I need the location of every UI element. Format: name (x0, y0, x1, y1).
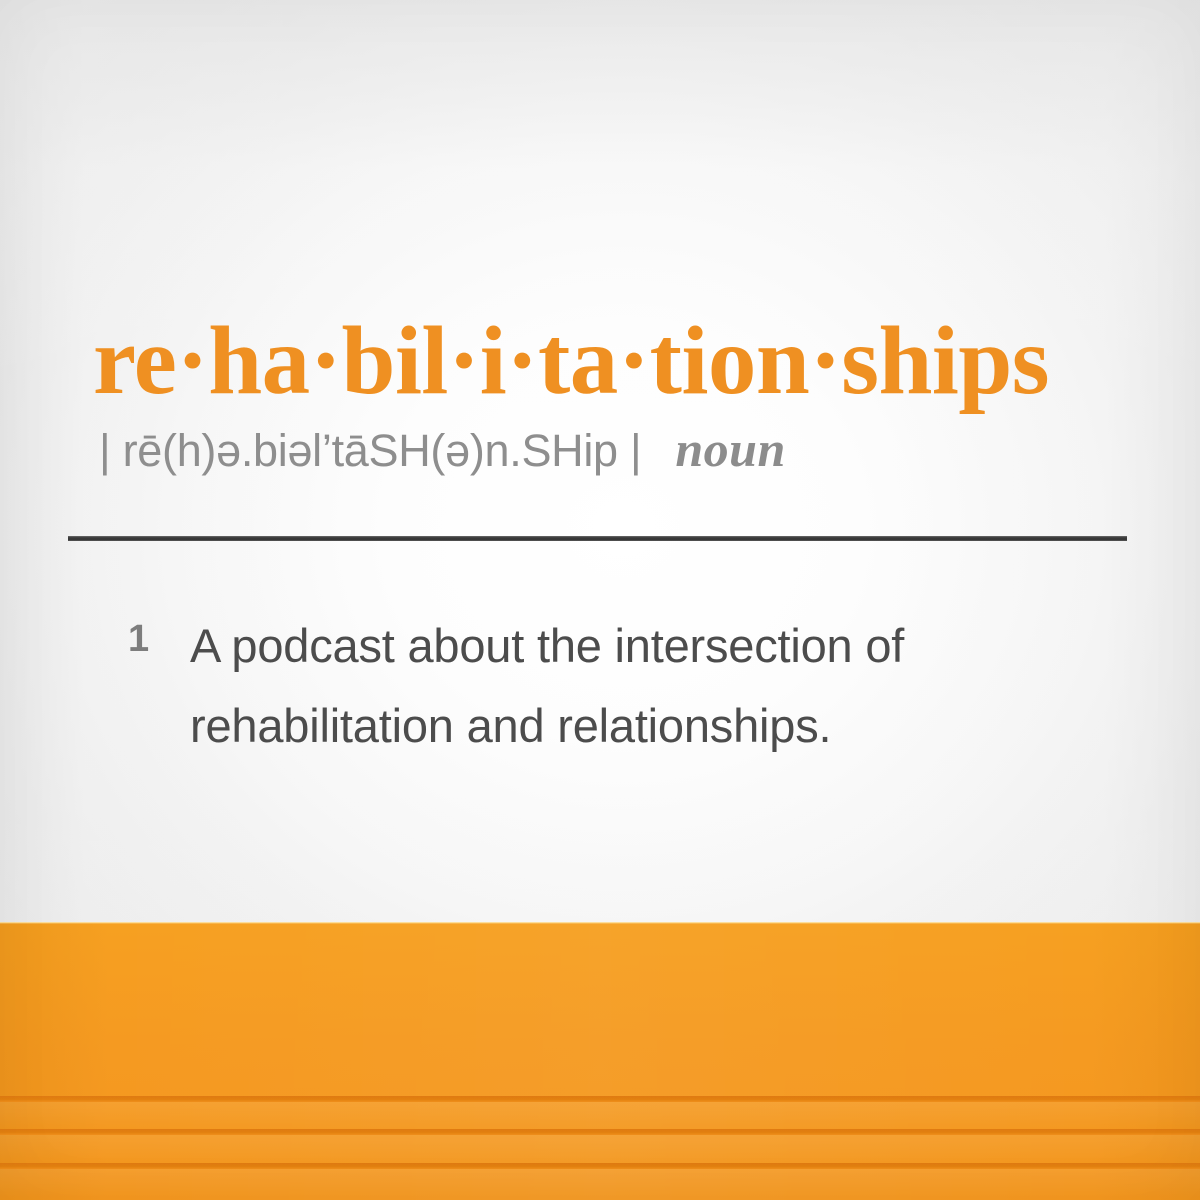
dictionary-headword: re·ha·bil·i·ta·tion·ships (93, 312, 1123, 409)
pronunciation-row: | rē(h)ə.biəl’tāSH(ə)n.SHip | noun (99, 424, 786, 474)
podcast-cover-poster: re·ha·bil·i·ta·tion·ships | rē(h)ə.biəl’… (0, 0, 1200, 1200)
pronunciation-text: | rē(h)ə.biəl’tāSH(ə)n.SHip | (99, 428, 641, 473)
horizontal-divider-rule (68, 536, 1127, 541)
band-stripe-1 (0, 1096, 1200, 1102)
orange-footer-band (0, 922, 1200, 1200)
band-stripe-2 (0, 1129, 1200, 1135)
band-stripe-1-shade (0, 1102, 1200, 1130)
band-stripe-3 (0, 1163, 1200, 1169)
band-stripe-3-shade (0, 1169, 1200, 1197)
band-top-hairline (0, 922, 1200, 924)
definition-entry: 1 A podcast about the intersection of re… (128, 606, 1068, 766)
definition-text: A podcast about the intersection of reha… (190, 606, 1068, 766)
band-stripe-2-shade (0, 1135, 1200, 1163)
part-of-speech-label: noun (675, 424, 785, 474)
definition-number: 1 (128, 606, 190, 672)
